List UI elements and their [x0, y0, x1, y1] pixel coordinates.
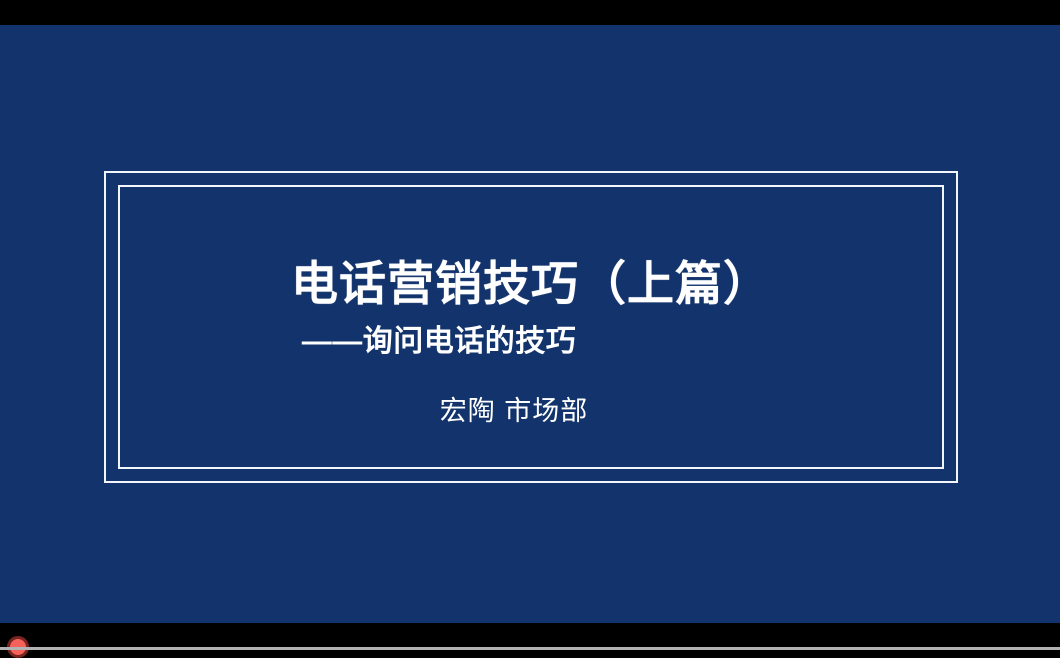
bottom-letterbox-bar: [0, 623, 1060, 647]
slide-viewer: 电话营销技巧（上篇） ——询问电话的技巧 宏陶 市场部: [0, 0, 1060, 650]
slide-title: 电话营销技巧（上篇）: [104, 259, 958, 309]
slide-text-block: 电话营销技巧（上篇） ——询问电话的技巧 宏陶 市场部: [104, 171, 958, 483]
slide-subtitle: ——询问电话的技巧: [104, 325, 958, 358]
top-letterbox-bar: [0, 0, 1060, 25]
presentation-slide[interactable]: 电话营销技巧（上篇） ——询问电话的技巧 宏陶 市场部: [0, 25, 1060, 623]
slide-author: 宏陶 市场部: [104, 397, 958, 427]
